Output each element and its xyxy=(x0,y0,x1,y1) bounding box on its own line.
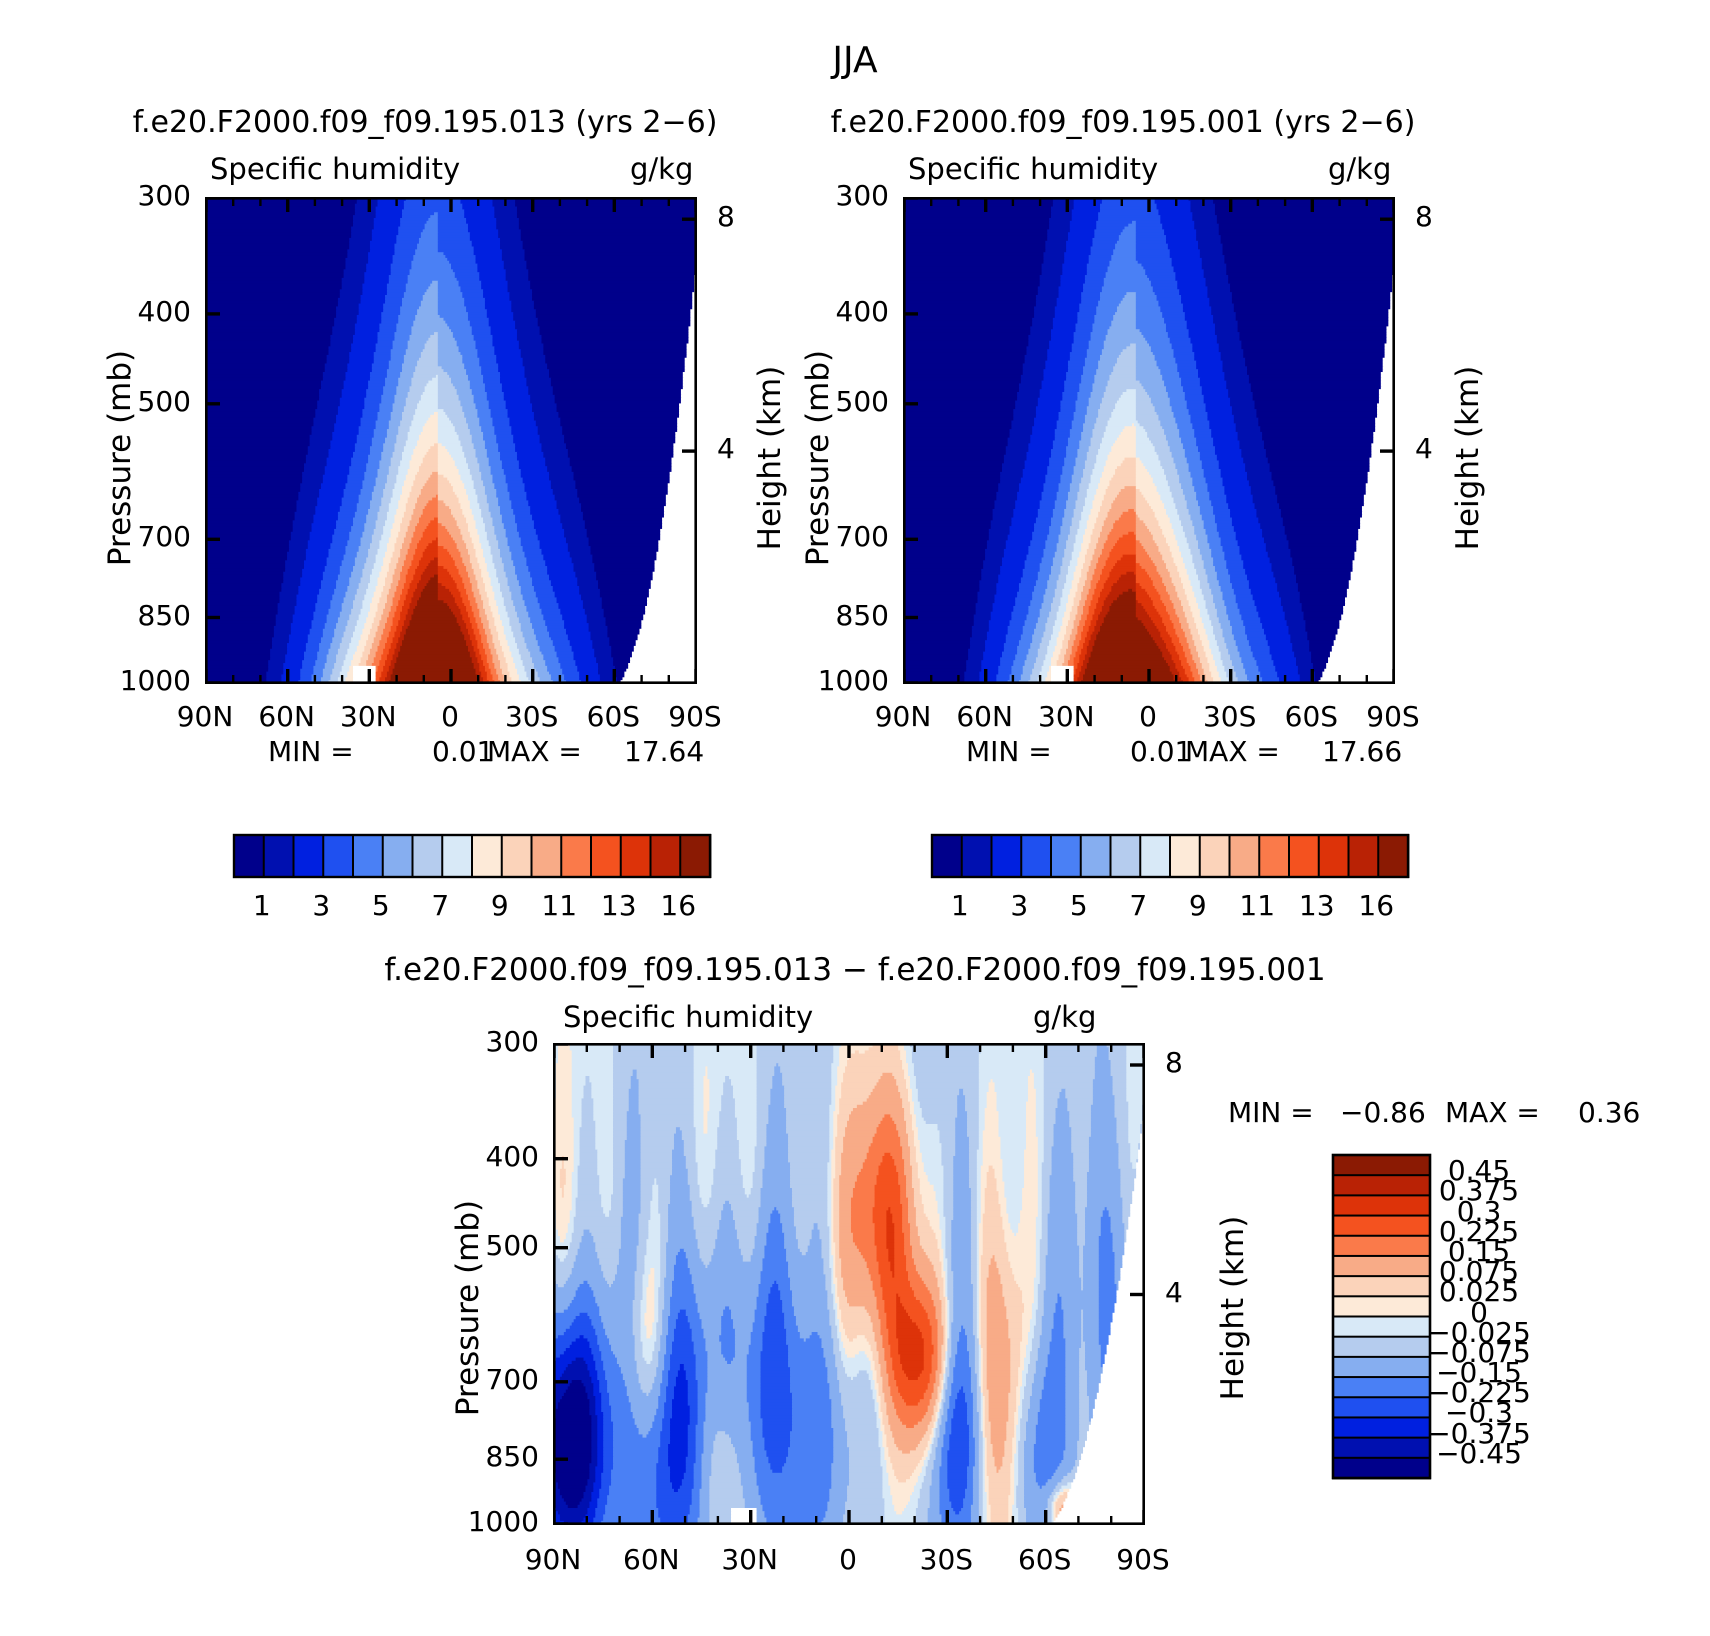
colorbar-tick-label: 5 xyxy=(372,889,390,922)
diff-ylabel: Pressure (mb) xyxy=(450,1200,486,1416)
diff-max-label: MAX = xyxy=(1445,1096,1540,1129)
pressure-tick-label: 300 xyxy=(836,179,889,212)
height-tick-label: 8 xyxy=(717,200,735,233)
colorbar-right xyxy=(930,833,1410,879)
latitude-tick-label: 60N xyxy=(258,700,315,733)
colorbar-tick-label: 9 xyxy=(1189,889,1207,922)
pressure-tick-label: 850 xyxy=(138,599,191,632)
pressure-tick-label: 300 xyxy=(138,179,191,212)
colorbar-tick-label: 16 xyxy=(1358,889,1394,922)
height-tick-label: 8 xyxy=(1165,1046,1183,1079)
right-min-value: 0.01 xyxy=(1130,735,1192,768)
colorbar-tick-label: 3 xyxy=(312,889,330,922)
height-tick-label: 8 xyxy=(1415,200,1433,233)
left-units-label: g/kg xyxy=(630,152,693,186)
left-ylabel: Pressure (mb) xyxy=(102,350,138,566)
diff-variable-label: Specific humidity xyxy=(563,1000,813,1034)
latitude-tick-label: 0 xyxy=(441,700,459,733)
diff-legend-colorbar xyxy=(1330,1152,1433,1481)
height-tick-label: 4 xyxy=(1415,432,1433,465)
right-max-label: MAX = xyxy=(1185,735,1280,768)
latitude-tick-label: 30N xyxy=(340,700,397,733)
right-y2label: Height (km) xyxy=(1450,366,1486,551)
colorbar-tick-label: 1 xyxy=(951,889,969,922)
latitude-tick-label: 30N xyxy=(721,1543,778,1576)
colorbar-tick-label: 13 xyxy=(601,889,637,922)
colorbar-tick-label: 1 xyxy=(253,889,271,922)
diff-legend-tick-label: −0.45 xyxy=(1436,1437,1522,1470)
pressure-tick-label: 400 xyxy=(836,295,889,328)
left-max-value: 17.64 xyxy=(624,735,704,768)
latitude-tick-label: 30S xyxy=(1203,700,1256,733)
diff-units-label: g/kg xyxy=(1033,1000,1096,1034)
pressure-tick-label: 700 xyxy=(836,520,889,553)
latitude-tick-label: 90N xyxy=(525,1543,582,1576)
latitude-tick-label: 60N xyxy=(956,700,1013,733)
right-units-label: g/kg xyxy=(1328,152,1391,186)
diff-min-label: MIN = xyxy=(1228,1096,1314,1129)
pressure-tick-label: 1000 xyxy=(120,664,191,697)
plot-panel-left xyxy=(205,197,697,684)
colorbar-tick-label: 11 xyxy=(541,889,577,922)
latitude-tick-label: 90S xyxy=(668,700,721,733)
latitude-tick-label: 60S xyxy=(1018,1543,1071,1576)
right-max-value: 17.66 xyxy=(1322,735,1402,768)
colorbar-tick-label: 7 xyxy=(1129,889,1147,922)
latitude-tick-label: 90S xyxy=(1366,700,1419,733)
left-variable-label: Specific humidity xyxy=(210,152,460,186)
pressure-tick-label: 400 xyxy=(486,1140,539,1173)
right-ylabel: Pressure (mb) xyxy=(800,350,836,566)
plot-panel-diff xyxy=(553,1043,1145,1525)
pressure-tick-label: 1000 xyxy=(468,1505,539,1538)
left-min-value: 0.01 xyxy=(432,735,494,768)
left-min-label: MIN = xyxy=(268,735,354,768)
left-y2label: Height (km) xyxy=(752,366,788,551)
left-panel-title: f.e20.F2000.f09_f09.195.013 (yrs 2−6) xyxy=(133,105,718,140)
colorbar-tick-label: 13 xyxy=(1299,889,1335,922)
pressure-tick-label: 1000 xyxy=(818,664,889,697)
height-tick-label: 4 xyxy=(717,432,735,465)
pressure-tick-label: 700 xyxy=(138,520,191,553)
latitude-tick-label: 30N xyxy=(1038,700,1095,733)
pressure-tick-label: 400 xyxy=(138,295,191,328)
latitude-tick-label: 0 xyxy=(1139,700,1157,733)
colorbar-tick-label: 7 xyxy=(431,889,449,922)
colorbar-tick-label: 16 xyxy=(660,889,696,922)
diff-max-value: 0.36 xyxy=(1578,1096,1640,1129)
height-tick-label: 4 xyxy=(1165,1276,1183,1309)
pressure-tick-label: 500 xyxy=(836,385,889,418)
pressure-tick-label: 500 xyxy=(138,385,191,418)
pressure-tick-label: 300 xyxy=(486,1025,539,1058)
diff-panel-title: f.e20.F2000.f09_f09.195.013 − f.e20.F200… xyxy=(384,952,1325,988)
latitude-tick-label: 60N xyxy=(623,1543,680,1576)
latitude-tick-label: 30S xyxy=(505,700,558,733)
latitude-tick-label: 90N xyxy=(875,700,932,733)
colorbar-tick-label: 3 xyxy=(1010,889,1028,922)
pressure-tick-label: 850 xyxy=(486,1440,539,1473)
diff-min-value: −0.86 xyxy=(1340,1096,1426,1129)
colorbar-left xyxy=(232,833,712,879)
latitude-tick-label: 0 xyxy=(839,1543,857,1576)
right-min-label: MIN = xyxy=(966,735,1052,768)
colorbar-tick-label: 11 xyxy=(1239,889,1275,922)
pressure-tick-label: 850 xyxy=(836,599,889,632)
latitude-tick-label: 60S xyxy=(1285,700,1338,733)
latitude-tick-label: 90N xyxy=(177,700,234,733)
colorbar-tick-label: 5 xyxy=(1070,889,1088,922)
diff-y2label: Height (km) xyxy=(1215,1216,1251,1401)
pressure-tick-label: 500 xyxy=(486,1229,539,1262)
right-variable-label: Specific humidity xyxy=(908,152,1158,186)
colorbar-tick-label: 9 xyxy=(491,889,509,922)
latitude-tick-label: 90S xyxy=(1116,1543,1169,1576)
left-max-label: MAX = xyxy=(487,735,582,768)
season-title: JJA xyxy=(832,40,877,81)
plot-panel-right xyxy=(903,197,1395,684)
latitude-tick-label: 30S xyxy=(920,1543,973,1576)
latitude-tick-label: 60S xyxy=(587,700,640,733)
right-panel-title: f.e20.F2000.f09_f09.195.001 (yrs 2−6) xyxy=(831,105,1416,140)
pressure-tick-label: 700 xyxy=(486,1363,539,1396)
